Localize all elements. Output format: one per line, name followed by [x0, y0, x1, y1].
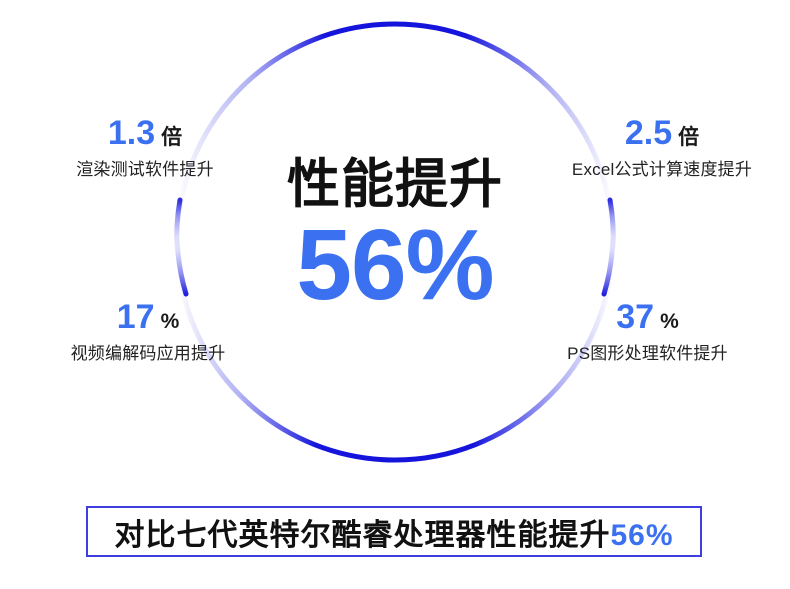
stat-figure: 2.5倍: [552, 116, 772, 150]
stat-unit: 倍: [678, 126, 699, 149]
stat-photoshop: 37% PS图形处理软件提升: [540, 300, 755, 365]
stat-label: 渲染测试软件提升: [55, 159, 235, 181]
stat-label: Excel公式计算速度提升: [552, 159, 772, 181]
stat-unit: %: [660, 310, 679, 333]
footer-highlight-value: 56%: [610, 519, 673, 552]
footer-caption: 对比七代英特尔酷睿处理器性能提升56%: [114, 510, 673, 554]
footer-caption-text: 对比七代英特尔酷睿处理器性能提升: [114, 519, 610, 552]
stat-rendering: 1.3倍 渲染测试软件提升: [55, 116, 235, 181]
stat-number: 2.5: [625, 114, 672, 152]
stat-figure: 17%: [38, 300, 258, 334]
stat-number: 37: [616, 298, 654, 336]
stat-number: 17: [117, 298, 155, 336]
footer-banner: 对比七代英特尔酷睿处理器性能提升56%: [86, 506, 702, 557]
page-title: 性能提升: [195, 155, 595, 215]
stat-video-codec: 17% 视频编解码应用提升: [38, 300, 258, 365]
center-headline-block: 性能提升 56%: [195, 155, 595, 317]
stat-figure: 37%: [540, 300, 755, 334]
stat-excel: 2.5倍 Excel公式计算速度提升: [552, 116, 772, 181]
stat-label: PS图形处理软件提升: [540, 343, 755, 365]
stat-number: 1.3: [108, 114, 155, 152]
stat-label: 视频编解码应用提升: [38, 343, 258, 365]
stat-unit: 倍: [161, 126, 182, 149]
stat-figure: 1.3倍: [55, 116, 235, 150]
infographic-canvas: 性能提升 56% 1.3倍 渲染测试软件提升 2.5倍 Excel公式计算速度提…: [0, 0, 790, 589]
stat-unit: %: [161, 310, 180, 333]
